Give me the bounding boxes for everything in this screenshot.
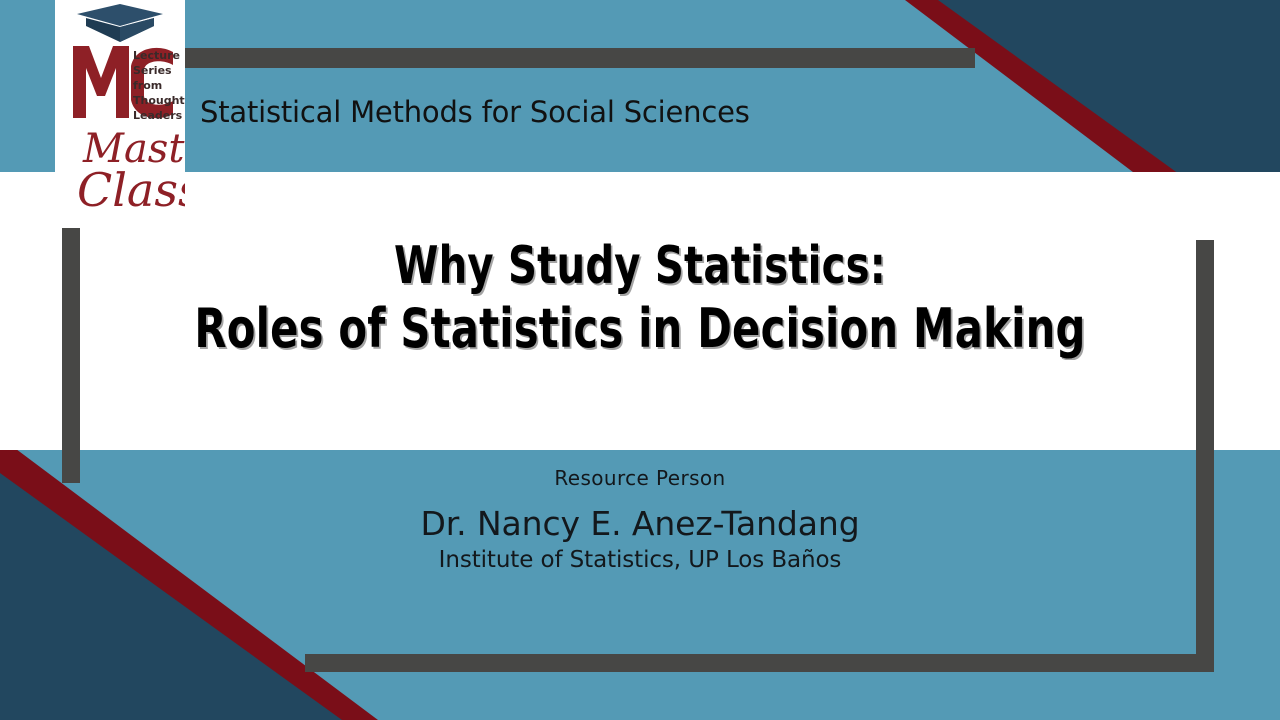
svg-text:Series: Series xyxy=(133,64,172,77)
course-title: Statistical Methods for Social Sciences xyxy=(200,95,750,129)
page-title: Why Study Statistics: Roles of Statistic… xyxy=(90,236,1191,361)
svg-text:from: from xyxy=(133,79,162,92)
page-title-line-1: Why Study Statistics: xyxy=(90,236,1191,297)
frame-bar-left xyxy=(62,228,80,483)
speaker-name: Dr. Nancy E. Anez-Tandang xyxy=(0,504,1280,543)
svg-text:Thought: Thought xyxy=(133,94,185,107)
svg-text:Class: Class xyxy=(77,163,185,217)
logo-tagline: Lecture Series from Thought Leaders xyxy=(133,49,185,122)
svg-text:Lecture: Lecture xyxy=(133,49,180,62)
svg-text:Leaders: Leaders xyxy=(133,109,183,122)
frame-bar-right xyxy=(1196,240,1214,672)
masterclass-logo: Lecture Series from Thought Leaders Mast… xyxy=(55,0,185,230)
page-title-line-2: Roles of Statistics in Decision Making xyxy=(90,297,1191,361)
speaker-role-label: Resource Person xyxy=(0,466,1280,490)
frame-bar-bottom xyxy=(305,654,1205,672)
frame-bar-top xyxy=(185,48,975,68)
logo-wordmark: Master Class xyxy=(77,126,185,217)
presentation-slide: Lecture Series from Thought Leaders Mast… xyxy=(0,0,1280,720)
speaker-block: Resource Person Dr. Nancy E. Anez-Tandan… xyxy=(0,466,1280,573)
graduation-cap-icon xyxy=(77,4,163,42)
speaker-affiliation: Institute of Statistics, UP Los Baños xyxy=(0,547,1280,573)
